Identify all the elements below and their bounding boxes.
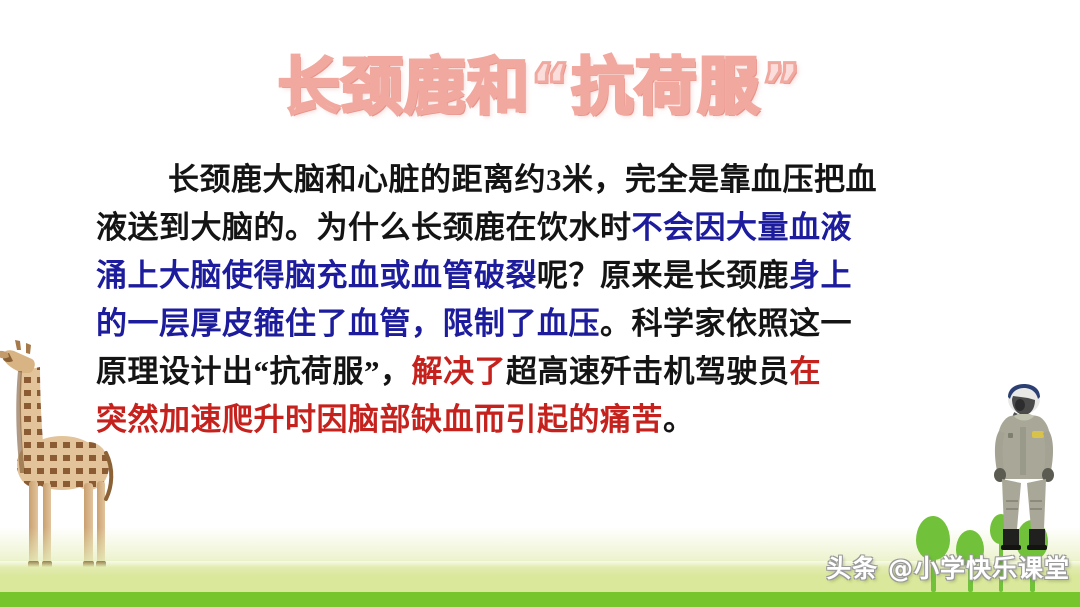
text-run: 。 bbox=[663, 402, 695, 437]
text-run: 呢？原来是长颈鹿 bbox=[537, 258, 789, 293]
text-run: 液送到大脑的。为什么长颈鹿在饮水时 bbox=[96, 210, 632, 245]
text-run-highlight-blue: 涌上大脑使得脑充血或血管破裂 bbox=[96, 258, 537, 293]
watermark-text: 头条 @小学快乐课堂 bbox=[826, 549, 1070, 585]
page-title: 长颈鹿和“抗荷服” bbox=[278, 36, 803, 126]
text-run-highlight-blue: 的一层厚皮箍住了血管，限制了血压 bbox=[96, 306, 600, 341]
body-line-3: 涌上大脑使得脑充血或血管破裂呢？原来是长颈鹿身上 bbox=[96, 252, 988, 300]
text-run: 长颈鹿大脑和心脏的距离约3米，完全是靠血压把血 bbox=[168, 162, 877, 197]
title-container: 长颈鹿和“抗荷服” bbox=[0, 36, 1080, 126]
body-line-5: 原理设计出“抗荷服”，解决了超高速歼击机驾驶员在 bbox=[96, 348, 988, 396]
body-paragraph: 长颈鹿大脑和心脏的距离约3米，完全是靠血压把血 液送到大脑的。为什么长颈鹿在饮水… bbox=[96, 156, 988, 444]
text-run: 原理设计出“抗荷服”， bbox=[96, 354, 412, 389]
text-run-highlight-blue: 身上 bbox=[789, 258, 852, 293]
text-run: 。科学家依照这一 bbox=[600, 306, 852, 341]
text-run-highlight-red: 在 bbox=[790, 354, 822, 389]
body-line-4: 的一层厚皮箍住了血管，限制了血压。科学家依照这一 bbox=[96, 300, 988, 348]
text-run-highlight-red: 突然加速爬升时因脑部缺血而引起的痛苦 bbox=[96, 402, 663, 437]
text-run-highlight-blue: 不会因大量血液 bbox=[632, 210, 853, 245]
slide-canvas: 长颈鹿和“抗荷服” 长颈鹿大脑和心脏的距离约3米，完全是靠血压把血 液送到大脑的… bbox=[0, 0, 1080, 607]
pilot-anti-g-suit-image bbox=[986, 383, 1062, 555]
text-run-highlight-red: 解决了 bbox=[412, 354, 507, 389]
body-line-6: 突然加速爬升时因脑部缺血而引起的痛苦。 bbox=[96, 396, 988, 444]
text-run: 超高速歼击机驾驶员 bbox=[506, 354, 790, 389]
bottom-bright-band bbox=[0, 592, 1080, 607]
body-line-1: 长颈鹿大脑和心脏的距离约3米，完全是靠血压把血 bbox=[96, 156, 988, 204]
body-line-2: 液送到大脑的。为什么长颈鹿在饮水时不会因大量血液 bbox=[96, 204, 988, 252]
